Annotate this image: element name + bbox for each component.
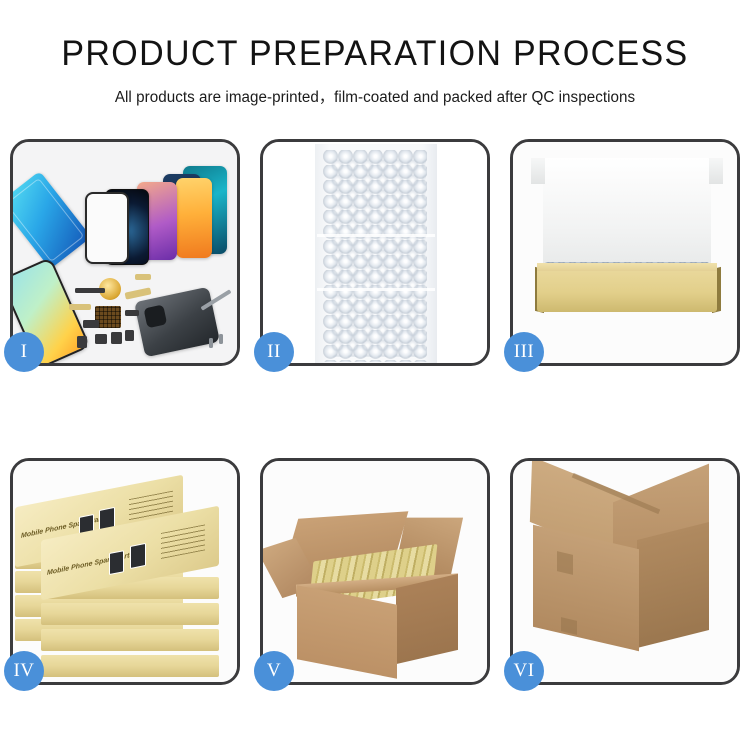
chip-part: [75, 288, 105, 293]
phone-back-housing: [134, 287, 220, 358]
step-panel-6: VI: [510, 458, 740, 685]
step-image-6: [513, 461, 737, 682]
box-screen-graphic: [109, 550, 124, 575]
process-steps-grid: I II III: [10, 139, 740, 685]
box-stack: Mobile Phone Spare Parts Mobile Phone Sp…: [13, 461, 237, 682]
step-image-2: [263, 142, 487, 363]
step-badge-5: V: [254, 651, 294, 691]
box-screen-graphic: [130, 543, 146, 569]
step-badge-2: II: [254, 332, 294, 372]
chip-part: [95, 334, 107, 344]
chip-part: [125, 330, 134, 341]
step-image-4: Mobile Phone Spare Parts Mobile Phone Sp…: [13, 461, 237, 682]
step-badge-1: I: [4, 332, 44, 372]
step-image-5: [263, 461, 487, 682]
step-image-3: [513, 142, 737, 363]
box-spec-lines: [161, 524, 205, 559]
step-badge-4: IV: [4, 651, 44, 691]
step-panel-4: Mobile Phone Spare Parts Mobile Phone Sp…: [10, 458, 240, 685]
chip-part: [111, 332, 122, 344]
carton-side-face: [396, 574, 458, 664]
chip-part: [83, 320, 99, 328]
phone-orange-screen: [176, 178, 212, 258]
flex-cable-part: [69, 304, 91, 310]
screw-part: [219, 334, 223, 344]
step-image-1: [13, 142, 237, 363]
step-badge-3: III: [504, 332, 544, 372]
step-badge-6: VI: [504, 651, 544, 691]
stacked-box: [41, 629, 219, 651]
page-title: PRODUCT PREPARATION PROCESS: [11, 34, 739, 74]
step-panel-2: II: [260, 139, 490, 366]
step-panel-5: V: [260, 458, 490, 685]
mailer-box-lid: [543, 158, 711, 274]
chip-part: [125, 310, 139, 316]
flex-cable-part: [125, 287, 152, 299]
bubble-wrap-seam: [317, 288, 435, 291]
bubble-wrap-bubbles-layer2: [330, 157, 426, 357]
page-subtitle: All products are image-printed，film-coat…: [8, 85, 743, 107]
phone-white-frame: [85, 192, 129, 264]
carton-front-face: [297, 585, 397, 678]
mailer-box-base: [537, 270, 717, 312]
stacked-box: [41, 603, 219, 625]
packing-tape-patch: [557, 551, 573, 575]
phone-blue-backplate: [13, 171, 91, 269]
screw-part: [209, 338, 213, 348]
product-preparation-infographic: PRODUCT PREPARATION PROCESS All products…: [0, 0, 750, 750]
step-panel-1: I: [10, 139, 240, 366]
step-panel-3: III: [510, 139, 740, 366]
sealed-carton-side-face: [637, 522, 709, 648]
header: PRODUCT PREPARATION PROCESS All products…: [0, 0, 750, 107]
stacked-box: [41, 655, 219, 677]
bubble-wrap-seam: [317, 234, 435, 237]
chip-part: [77, 336, 87, 348]
flex-cable-part: [135, 274, 151, 280]
